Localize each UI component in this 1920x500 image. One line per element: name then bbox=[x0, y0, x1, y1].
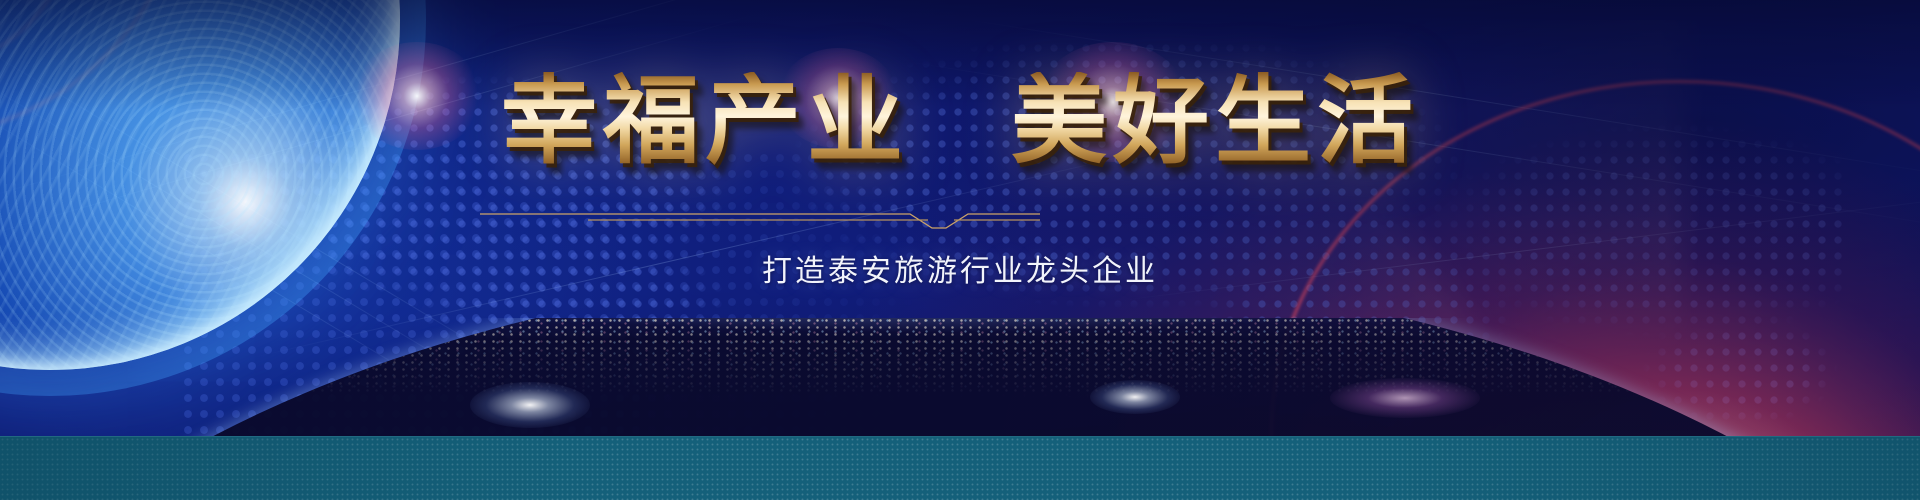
bottom-bar bbox=[0, 436, 1920, 500]
background-vignette bbox=[0, 0, 1920, 500]
hero-banner: 幸福产业 美好生活 打造泰安旅游行业龙头企业 bbox=[0, 0, 1920, 500]
